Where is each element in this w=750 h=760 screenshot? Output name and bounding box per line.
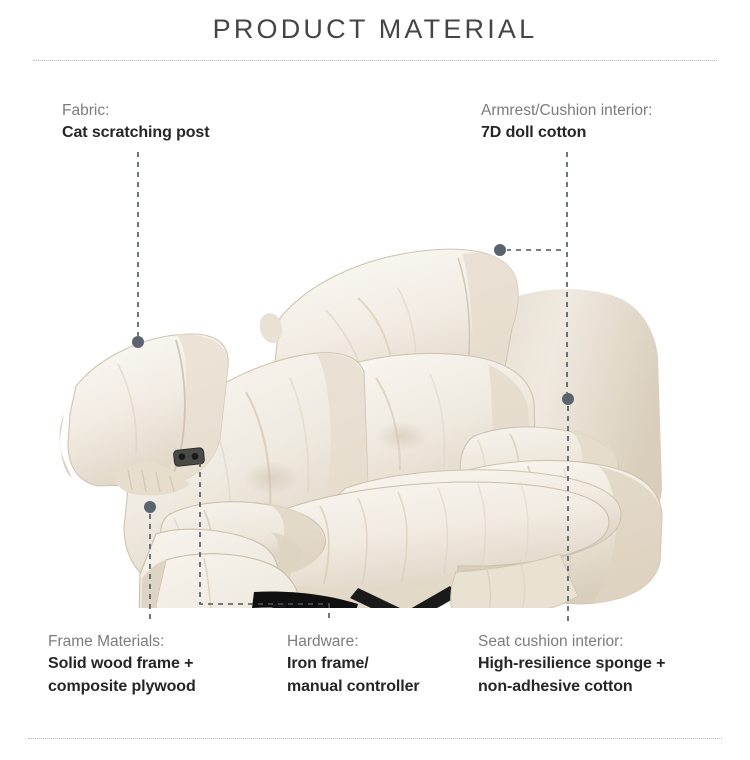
callout-head-seat: Seat cushion interior:: [478, 631, 665, 652]
sofa-illustration: Two-seat recliner sofa in cream velvet w…: [58, 188, 688, 608]
callout-label-fabric: Fabric: Cat scratching post: [62, 100, 209, 144]
divider-bottom: [28, 738, 722, 739]
callout-body-armrest-line1: 7D doll cotton: [481, 121, 652, 144]
sofa-headrest-nub: [260, 313, 282, 343]
callout-label-hardware: Hardware: Iron frame/ manual controller: [287, 631, 420, 698]
tuft: [243, 461, 299, 495]
callout-head-hardware: Hardware:: [287, 631, 420, 652]
controller-bezel[interactable]: [173, 447, 205, 466]
callout-body-hardware-line1: Iron frame/: [287, 652, 420, 675]
callout-body-frame-line1: Solid wood frame +: [48, 652, 196, 675]
tuft: [376, 421, 428, 451]
callout-body-hardware-line2: manual controller: [287, 675, 420, 698]
product-material-infographic: PRODUCT MATERIAL Two-seat recliner sofa …: [0, 0, 750, 760]
callout-head-fabric: Fabric:: [62, 100, 209, 121]
divider-top: [33, 60, 717, 61]
callout-label-armrest: Armrest/Cushion interior: 7D doll cotton: [481, 100, 652, 144]
callout-head-armrest: Armrest/Cushion interior:: [481, 100, 652, 121]
callout-label-seat: Seat cushion interior: High-resilience s…: [478, 631, 665, 698]
callout-head-frame: Frame Materials:: [48, 631, 196, 652]
callout-body-seat-line1: High-resilience sponge +: [478, 652, 665, 675]
product-image: Two-seat recliner sofa in cream velvet w…: [58, 188, 688, 608]
page-title: PRODUCT MATERIAL: [0, 14, 750, 45]
callout-label-frame: Frame Materials: Solid wood frame + comp…: [48, 631, 196, 698]
controller-button-assembly[interactable]: [173, 447, 205, 466]
callout-body-frame-line2: composite plywood: [48, 675, 196, 698]
callout-body-seat-line2: non-adhesive cotton: [478, 675, 665, 698]
callout-body-fabric-line1: Cat scratching post: [62, 121, 209, 144]
